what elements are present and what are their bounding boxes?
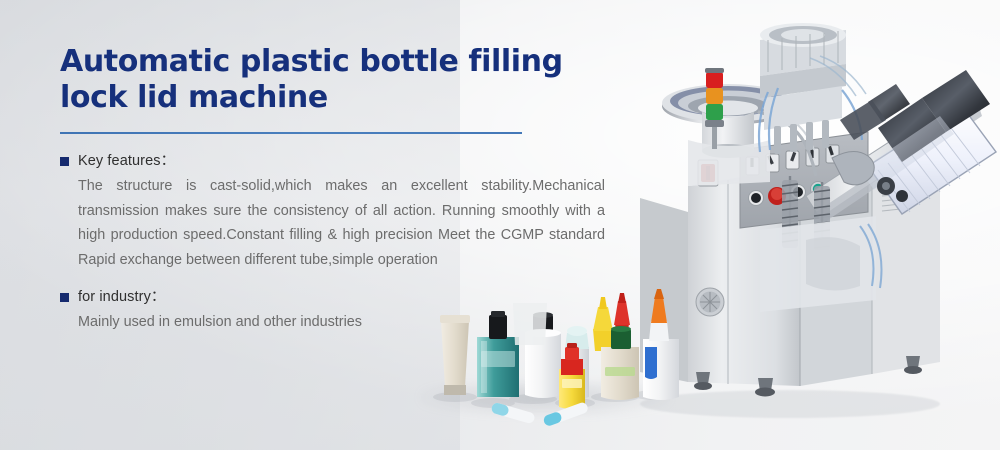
section-heading-label: Key features：: [78, 151, 175, 171]
section-heading-label: for industry：: [78, 287, 166, 307]
bullet-square-icon: [60, 293, 69, 302]
bottle-samples-photo: [415, 285, 685, 430]
title-divider: [60, 132, 522, 134]
bullet-square-icon: [60, 157, 69, 166]
page-title: Automatic plastic bottle filling lock li…: [60, 44, 605, 116]
section-body-text: The structure is cast-solid,which makes …: [78, 174, 605, 272]
section-key-features: Key features： The structure is cast-soli…: [60, 151, 605, 272]
section-heading: Key features：: [60, 151, 605, 171]
